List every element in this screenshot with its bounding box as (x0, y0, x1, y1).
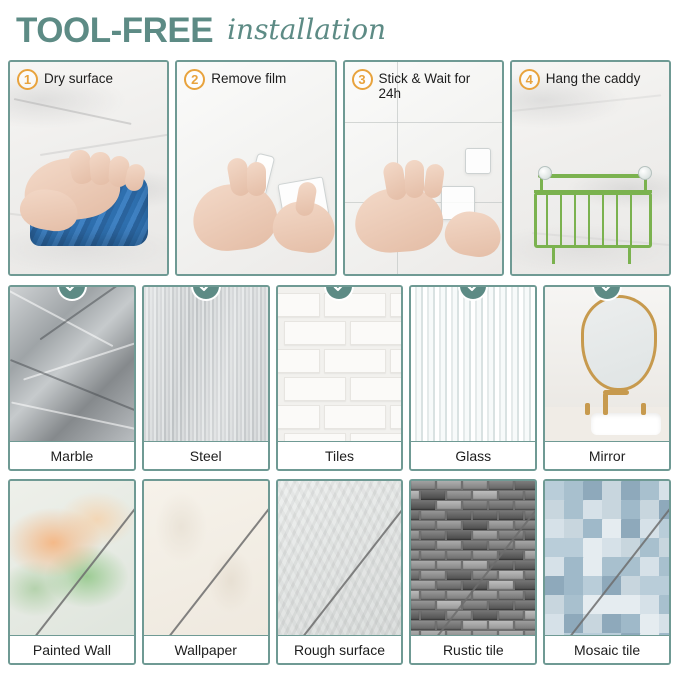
surface-image-marble (10, 287, 134, 441)
header: TOOL-FREE installation (0, 0, 679, 60)
surface-cell-wallpaper: Wallpaper (142, 479, 270, 665)
surface-cell-rough-surface: Rough surface (276, 479, 404, 665)
step-4-image (512, 62, 669, 274)
surface-cell-rustic-tile: Rustic tile (409, 479, 537, 665)
step-card-4: 4 Hang the caddy (510, 60, 671, 276)
step-2-label: Remove film (211, 69, 286, 86)
surface-caption-rustic-tile: Rustic tile (411, 635, 535, 663)
step-4-header: 4 Hang the caddy (512, 62, 669, 90)
step-3-header: 3 Stick & Wait for 24h (345, 62, 502, 101)
step-card-1: 1 Dry surface (8, 60, 169, 276)
unsupported-surfaces-row: Painted Wall Wallpaper Rough surface (8, 479, 671, 665)
step-2-header: 2 Remove film (177, 62, 334, 90)
step-3-number: 3 (352, 69, 373, 90)
step-4-number: 4 (519, 69, 540, 90)
surface-cell-steel: Steel (142, 285, 270, 471)
step-1-header: 1 Dry surface (10, 62, 167, 90)
surface-cell-mosaic-tile: Mosaic tile (543, 479, 671, 665)
surface-image-glass (411, 287, 535, 441)
surface-caption-mirror: Mirror (545, 441, 669, 469)
step-2-image (177, 62, 334, 274)
surface-caption-marble: Marble (10, 441, 134, 469)
surface-caption-steel: Steel (144, 441, 268, 469)
step-3-label: Stick & Wait for 24h (379, 69, 496, 101)
step-card-2: 2 Remove film (175, 60, 336, 276)
surface-cell-glass: Glass (409, 285, 537, 471)
infographic-page: TOOL-FREE installation 1 (0, 0, 679, 674)
step-2-number: 2 (184, 69, 205, 90)
surface-image-steel (144, 287, 268, 441)
page-subtitle: installation (227, 16, 386, 44)
page-title: TOOL-FREE (16, 13, 213, 48)
supported-surfaces-row: Marble Steel (8, 285, 671, 471)
installation-steps: 1 Dry surface 2 Remove film (8, 60, 671, 276)
surface-cell-painted-wall: Painted Wall (8, 479, 136, 665)
surface-caption-glass: Glass (411, 441, 535, 469)
step-card-3: 3 Stick & Wait for 24h (343, 60, 504, 276)
surface-image-rough-surface (278, 481, 402, 635)
surface-image-rustic-tile (411, 481, 535, 635)
surface-image-mosaic-tile (545, 481, 669, 635)
step-1-label: Dry surface (44, 69, 113, 86)
step-1-image (10, 62, 167, 274)
step-4-label: Hang the caddy (546, 69, 641, 86)
surface-image-wallpaper (144, 481, 268, 635)
surface-cell-marble: Marble (8, 285, 136, 471)
surface-caption-mosaic-tile: Mosaic tile (545, 635, 669, 663)
step-1-number: 1 (17, 69, 38, 90)
surface-cell-tiles: Tiles (276, 285, 404, 471)
surface-caption-painted-wall: Painted Wall (10, 635, 134, 663)
surface-caption-wallpaper: Wallpaper (144, 635, 268, 663)
surface-caption-tiles: Tiles (278, 441, 402, 469)
surface-image-mirror (545, 287, 669, 441)
surface-caption-rough-surface: Rough surface (278, 635, 402, 663)
surface-cell-mirror: Mirror (543, 285, 671, 471)
surface-image-tiles (278, 287, 402, 441)
surface-compatibility-grid: Marble Steel (8, 285, 671, 665)
surface-image-painted-wall (10, 481, 134, 635)
